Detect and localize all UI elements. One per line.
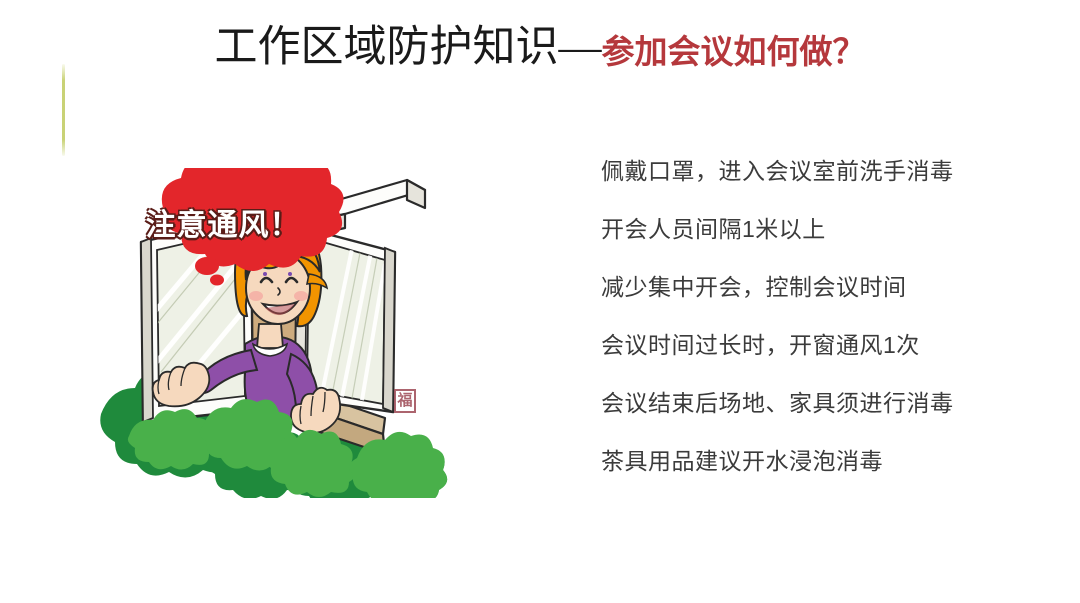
page-title-main: 工作区域防护知识— <box>215 24 602 71</box>
slide-canvas: 工作区域防护知识—参加会议如何做？ <box>0 0 1080 603</box>
accent-rule-divider <box>62 64 65 156</box>
list-item: 会议时间过长时，开窗通风1次 <box>601 316 1021 374</box>
list-item: 佩戴口罩，进入会议室前洗手消毒 <box>601 142 1021 200</box>
ventilation-illustration <box>95 168 455 498</box>
list-item: 茶具用品建议开水浸泡消毒 <box>601 432 1021 490</box>
list-item: 减少集中开会，控制会议时间 <box>601 258 1021 316</box>
guideline-list: 佩戴口罩，进入会议室前洗手消毒 开会人员间隔1米以上 减少集中开会，控制会议时间… <box>601 142 1021 490</box>
list-item: 开会人员间隔1米以上 <box>601 200 1021 258</box>
seal-stamp-icon: 福 <box>394 389 416 413</box>
page-title: 工作区域防护知识—参加会议如何做？ <box>0 12 1080 74</box>
page-title-accent: 参加会议如何做？ <box>602 33 866 70</box>
list-item: 会议结束后场地、家具须进行消毒 <box>601 374 1021 432</box>
